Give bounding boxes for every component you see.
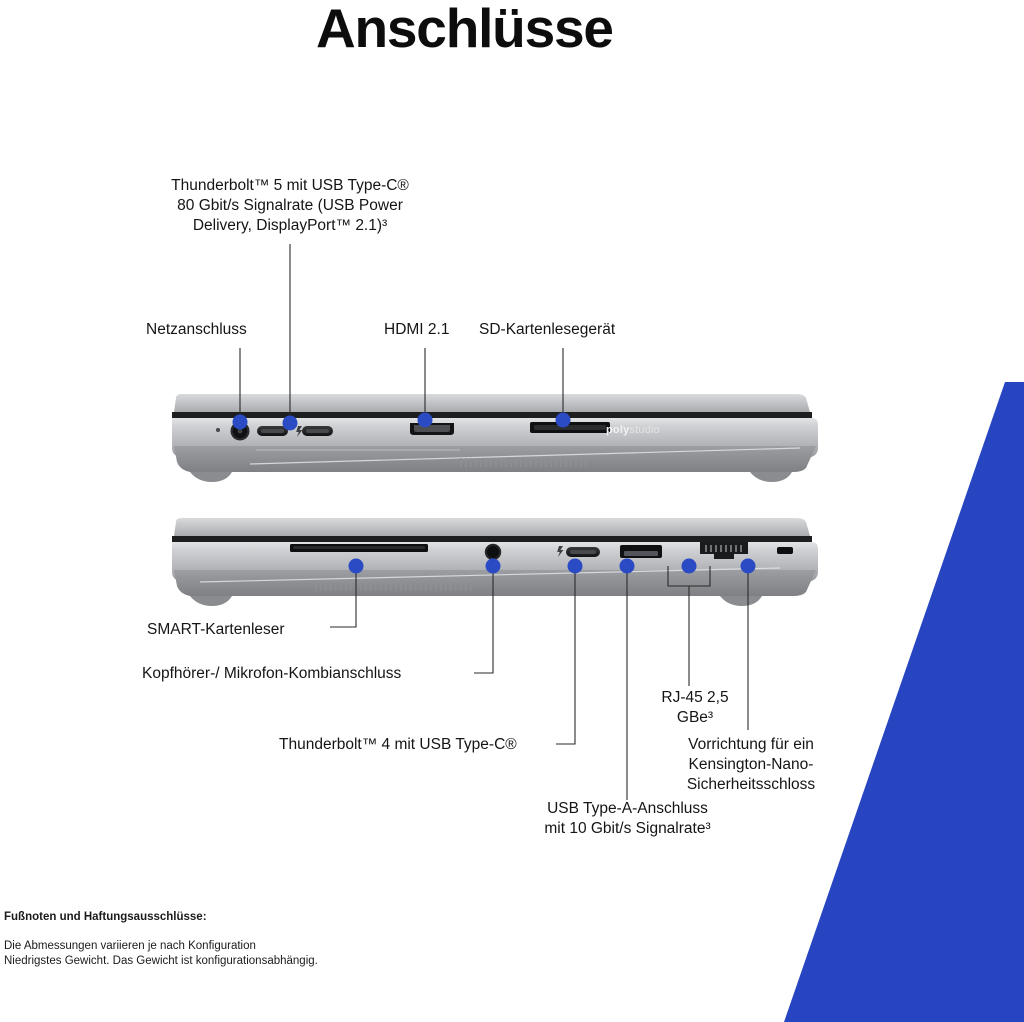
port-marker-sd [556,413,571,428]
laptop-right-side-ports [160,392,820,484]
port-marker-usb-a [620,559,635,574]
footnotes-heading: Fußnoten und Haftungsausschlüsse: [4,911,207,923]
port-marker-kensington [741,559,756,574]
brandmark-studio: studio [629,424,660,436]
callout-kensington-lock: Vorrichtung für ein Kensington-Nano- Sic… [666,735,836,794]
port-marker-netzanschluss [233,415,248,430]
callout-thunderbolt-4: Thunderbolt™ 4 mit USB Type-C® [279,735,517,755]
callout-usb-type-a: USB Type-A-Anschluss mit 10 Gbit/s Signa… [500,799,755,839]
callout-leader-lines [0,0,1024,1022]
port-marker-kopfhoerer [486,559,501,574]
poly-studio-brandmark: polystudio [606,424,660,436]
port-marker-rj45 [682,559,697,574]
callout-thunderbolt-5: Thunderbolt™ 5 mit USB Type-C® 80 Gbit/s… [140,176,440,235]
callout-netzanschluss: Netzanschluss [146,320,247,340]
port-marker-smart-kartenleser [349,559,364,574]
blue-corner-wedge [0,0,1024,1022]
poster-canvas: Anschlüsse [0,0,1024,1022]
port-marker-hdmi [418,413,433,428]
page-title: Anschlüsse [316,0,613,59]
port-marker-thunderbolt-5 [283,416,298,431]
callout-hdmi: HDMI 2.1 [384,320,449,340]
callout-sd-kartenlesegeraet: SD-Kartenlesegerät [479,320,615,340]
callout-rj45: RJ-45 2,5 GBe³ [640,688,750,728]
callout-smart-kartenleser: SMART-Kartenleser [147,620,285,640]
port-marker-thunderbolt-4 [568,559,583,574]
callout-kopfhoerer-mikrofon: Kopfhörer-/ Mikrofon-Kombianschluss [142,664,401,684]
footnotes-body: Die Abmessungen variieren je nach Konfig… [4,939,318,969]
brandmark-poly: poly [606,424,629,436]
